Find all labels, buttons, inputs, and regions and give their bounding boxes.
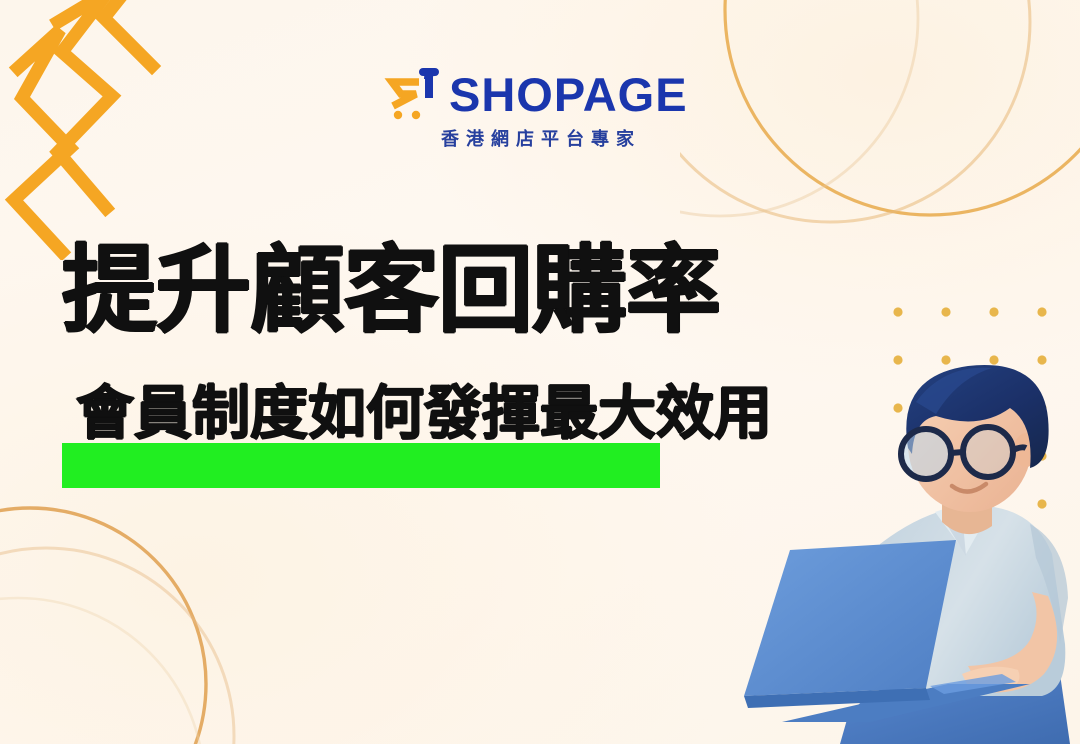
circle-outlines-decoration-bottom (0, 484, 280, 744)
promo-banner: SHOPAGE 香港網店平台專家 提升顧客回購率 會員制度如何發揮最大效用 (0, 0, 1080, 744)
man-with-laptop-illustration (730, 344, 1080, 744)
shopping-cart-icon (383, 68, 443, 120)
zigzag-lines-decoration (0, 0, 220, 260)
brand-logo[interactable]: SHOPAGE 香港網店平台專家 (383, 68, 703, 148)
brand-tagline: 香港網店平台專家 (441, 125, 641, 151)
circle-outlines-decoration (680, 0, 1080, 270)
brand-wordmark: SHOPAGE (449, 71, 688, 118)
highlight-bar (62, 443, 660, 488)
page-title: 提升顧客回購率 (62, 243, 720, 340)
subtitle-block: 會員制度如何發揮最大效用 (62, 383, 822, 495)
logo-row: SHOPAGE (383, 68, 688, 120)
page-subtitle: 會員制度如何發揮最大效用 (76, 383, 772, 444)
